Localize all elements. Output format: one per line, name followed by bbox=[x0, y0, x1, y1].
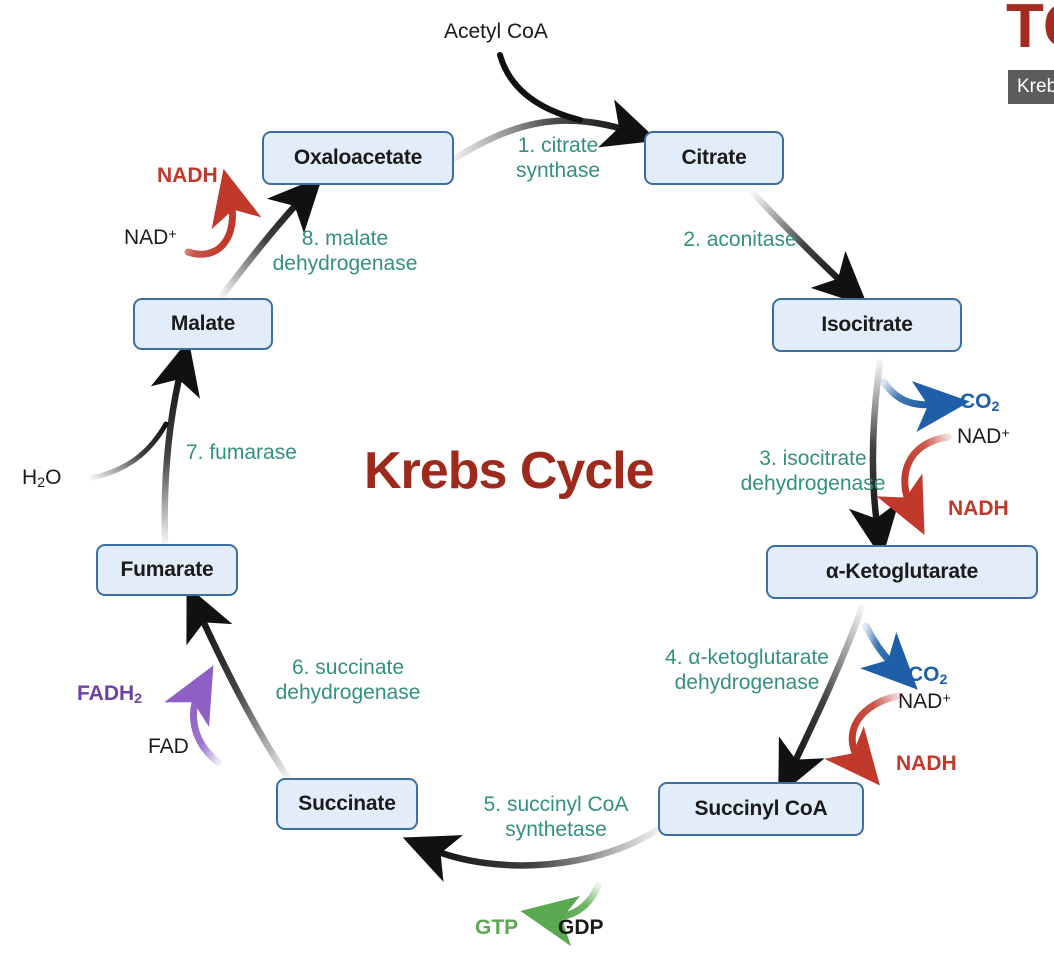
nadh-branch-arrow-step8 bbox=[188, 196, 232, 254]
node-alpha-ketoglutarate[interactable]: α-Ketoglutarate bbox=[766, 545, 1038, 599]
node-isocitrate[interactable]: Isocitrate bbox=[772, 298, 962, 352]
label-nadh-step8: NADH bbox=[157, 164, 218, 188]
gtp-gdp-branch-arrow bbox=[548, 886, 598, 917]
node-fumarate[interactable]: Fumarate bbox=[96, 544, 238, 596]
krebs-cycle-diagram: Oxaloacetate Citrate Isocitrate α-Ketogl… bbox=[0, 0, 1054, 964]
acetyl-coa-inflow-arrow bbox=[500, 55, 580, 120]
label-acetyl-coa: Acetyl CoA bbox=[444, 20, 548, 44]
enzyme-label-7-fumarase: 7. fumarase bbox=[186, 440, 316, 465]
label-fad: FAD bbox=[148, 735, 189, 759]
node-malate[interactable]: Malate bbox=[133, 298, 273, 350]
corner-title: TC bbox=[1006, 0, 1054, 58]
enzyme-label-3-isocitrate-dehydrogenase: 3. isocitrate dehydrogenase bbox=[718, 446, 908, 496]
node-isocitrate-label: Isocitrate bbox=[821, 313, 912, 337]
co2-branch-arrow-step4 bbox=[866, 626, 898, 670]
enzyme-label-5-succinyl-coa-synthetase: 5. succinyl CoA synthetase bbox=[450, 792, 662, 842]
node-citrate[interactable]: Citrate bbox=[644, 131, 784, 185]
node-citrate-label: Citrate bbox=[681, 146, 746, 170]
label-nad-plus-step3: NAD+ bbox=[957, 425, 1010, 449]
label-co2-step3: CO2 bbox=[960, 390, 999, 415]
label-nad-plus-step4: NAD+ bbox=[898, 690, 951, 714]
co2-branch-arrow-step3 bbox=[884, 382, 942, 405]
page-title: Krebs Cycle bbox=[364, 441, 654, 501]
label-nadh-step4: NADH bbox=[896, 752, 957, 776]
enzyme-label-8-malate-dehydrogenase: 8. malate dehydrogenase bbox=[251, 226, 439, 276]
node-oxaloacetate[interactable]: Oxaloacetate bbox=[262, 131, 454, 185]
label-gdp: GDP bbox=[558, 916, 604, 940]
node-succinyl-coa[interactable]: Succinyl CoA bbox=[658, 782, 864, 836]
label-gtp: GTP bbox=[475, 916, 518, 940]
fad-fadh2-branch-arrow bbox=[194, 690, 218, 762]
enzyme-label-6-succinate-dehydrogenase: 6. succinate dehydrogenase bbox=[250, 655, 446, 705]
enzyme-label-2-aconitase: 2. aconitase bbox=[660, 227, 820, 252]
enzyme-label-1-citrate-synthase: 1. citrate synthase bbox=[498, 133, 618, 183]
nadh-branch-arrow-step3 bbox=[905, 437, 948, 510]
label-fadh2: FADH2 bbox=[77, 682, 142, 707]
node-fumarate-label: Fumarate bbox=[121, 558, 214, 582]
water-inflow-arrow bbox=[92, 424, 166, 478]
node-succinyl-coa-label: Succinyl CoA bbox=[695, 797, 828, 821]
tooltip-label: Krebs bbox=[1008, 70, 1054, 104]
label-water: H2O bbox=[22, 466, 61, 491]
label-nad-plus-step8: NAD+ bbox=[124, 226, 177, 250]
node-succinate[interactable]: Succinate bbox=[276, 778, 418, 830]
node-oxaloacetate-label: Oxaloacetate bbox=[294, 146, 422, 170]
arrow-fumarate-to-malate bbox=[165, 366, 182, 542]
nadh-branch-arrow-step4 bbox=[852, 696, 898, 764]
node-malate-label: Malate bbox=[171, 312, 235, 336]
node-succinate-label: Succinate bbox=[298, 792, 395, 816]
node-alpha-ketoglutarate-label: α-Ketoglutarate bbox=[826, 560, 978, 584]
label-co2-step4: CO2 bbox=[908, 663, 947, 688]
label-nadh-step3: NADH bbox=[948, 497, 1009, 521]
enzyme-label-4-alpha-ketoglutarate-dehydrogenase: 4. α-ketoglutarate dehydrogenase bbox=[634, 645, 860, 695]
